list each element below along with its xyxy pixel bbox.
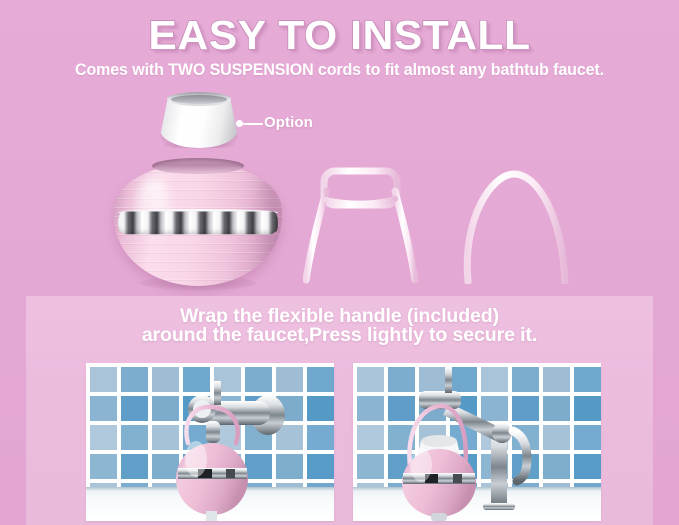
speaker-bottom-foot (431, 513, 447, 521)
speaker-band-dark-segment-2 (453, 474, 462, 483)
left-photo-objects (86, 363, 334, 521)
flexible-arch-cord (452, 166, 580, 284)
instruction-line-2: around the faucet,Press lightly to secur… (26, 324, 653, 347)
speaker-highlight (410, 448, 432, 482)
faucet-side-lever (513, 431, 527, 481)
page-title: EASY TO INSTALL (0, 13, 679, 57)
faucet-riser (445, 367, 452, 393)
promo-infographic: EASY TO INSTALL Comes with TWO SUSPENSIO… (0, 0, 679, 525)
sink-faucet-install-photo (353, 363, 601, 521)
faucet-neck (206, 421, 220, 443)
rigid-loop-handle-cord (303, 165, 433, 285)
cord-right-leg (395, 191, 415, 280)
speaker-band-dark-segment-2 (226, 469, 235, 478)
cord-left-leg (306, 191, 326, 280)
faucet-base (483, 503, 515, 510)
option-callout-label: Option (264, 114, 313, 132)
bathtub-faucet-install-photo (86, 363, 334, 521)
white-detachable-cap (160, 92, 238, 148)
faucet-riser-pipe (214, 381, 221, 405)
page-subtitle: Comes with TWO SUSPENSION cords to fit a… (10, 60, 669, 80)
cap-rim-inner (171, 95, 227, 104)
option-callout-leader-line (243, 123, 263, 125)
cord-arch-path (467, 174, 565, 282)
chrome-band (118, 211, 278, 235)
pink-ball-speaker (114, 158, 282, 286)
speaker-top-opening (152, 158, 244, 174)
cord-crossbar (326, 199, 395, 204)
tub-nozzle (206, 511, 217, 521)
cap-highlight (177, 112, 194, 148)
option-callout-dot (236, 120, 243, 127)
speaker-highlight (185, 441, 207, 477)
cap-rim (421, 435, 457, 447)
right-photo-objects (353, 363, 601, 521)
